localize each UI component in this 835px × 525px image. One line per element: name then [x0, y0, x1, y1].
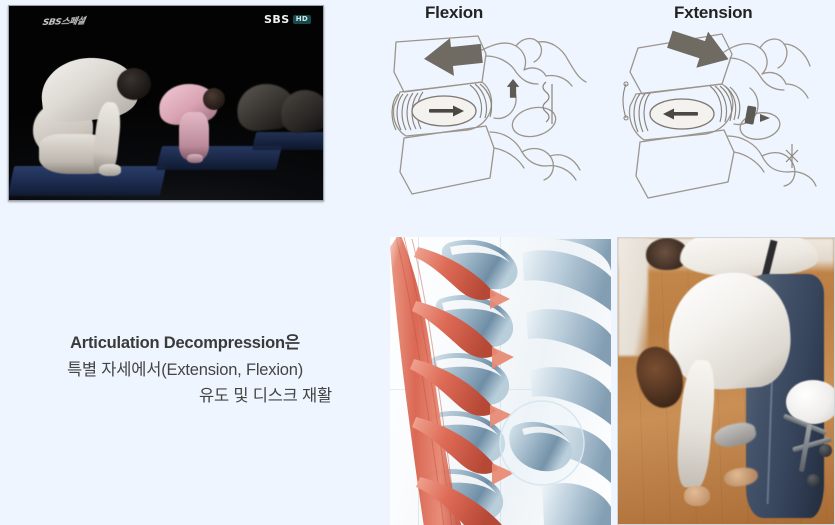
channel-logo: SBS HD	[264, 13, 311, 26]
participant-figure	[203, 88, 225, 110]
participant-figure	[187, 154, 203, 163]
broadcast-watermark: SBS스페셜	[42, 13, 115, 29]
hd-badge: HD	[293, 15, 311, 24]
facet-arrow-up	[507, 79, 519, 98]
flexion-vertebra-diagram	[382, 26, 610, 216]
participant-figure	[179, 112, 209, 160]
rolling-stool	[807, 474, 820, 487]
facet-arrow-right	[760, 114, 770, 122]
broadcast-video-still: SBS스페셜 SBS HD	[8, 5, 324, 201]
background-wall	[618, 238, 648, 356]
caption-line-1: Articulation Decompression은	[30, 330, 340, 357]
facet-marker	[744, 105, 756, 124]
clinical-technique-photo	[617, 237, 835, 525]
video-scene-backdrop	[9, 6, 323, 200]
extension-vertebra-diagram	[610, 26, 835, 216]
yoga-mat	[252, 132, 324, 150]
patient-figure	[684, 486, 710, 506]
channel-logo-text: SBS	[264, 13, 290, 26]
rolling-stool	[819, 444, 832, 457]
spine-illustration	[390, 237, 611, 525]
spine-muscle-render	[390, 237, 611, 525]
flexion-direction-arrow	[422, 35, 484, 79]
caption-line-2: 특별 자세에서(Extension, Flexion)	[30, 357, 340, 384]
participant-figure	[117, 68, 151, 100]
extension-heading: Fxtension	[674, 3, 753, 23]
participant-figure	[99, 164, 121, 176]
caption-line-3: 유도 및 디스크 재활	[30, 383, 340, 410]
flexion-heading: Flexion	[425, 3, 483, 23]
caption-block: Articulation Decompression은 특별 자세에서(Exte…	[30, 330, 340, 410]
therapist-figure	[680, 237, 818, 276]
slide-canvas: SBS스페셜 SBS HD Articulation Decompression…	[0, 0, 835, 525]
